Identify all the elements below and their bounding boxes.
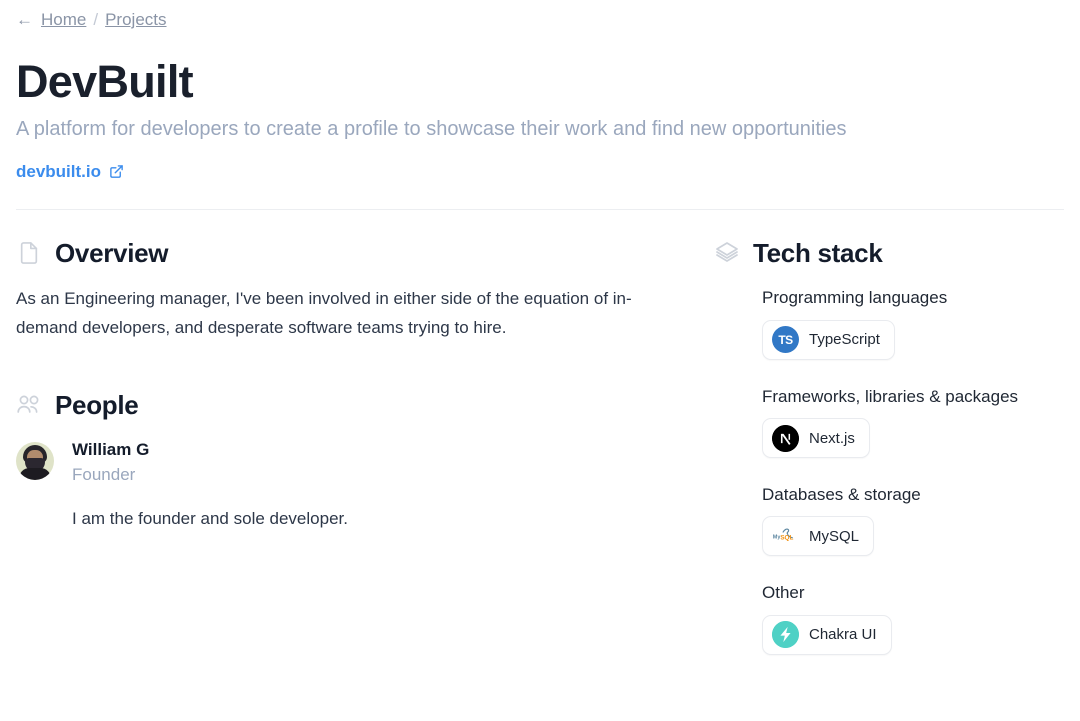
project-detail-page: ← Home / Projects DevBuilt A platform fo… [0, 0, 1080, 721]
document-icon [16, 240, 42, 266]
tech-chip-label: Next.js [809, 431, 855, 446]
tech-chip-nextjs[interactable]: Next.js [762, 418, 870, 458]
overview-heading: Overview [55, 240, 168, 266]
person-info: William G Founder [72, 439, 149, 486]
left-column: Overview As an Engineering manager, I've… [16, 240, 714, 531]
tech-chip-chakra-ui[interactable]: Chakra UI [762, 615, 892, 655]
section-divider [16, 209, 1064, 210]
breadcrumb: ← Home / Projects [16, 0, 1064, 28]
arrow-left-icon[interactable]: ← [16, 11, 33, 28]
tech-chip-mysql[interactable]: My SQL MySQL [762, 516, 874, 556]
person-note: I am the founder and sole developer. [72, 506, 714, 532]
layers-icon [714, 240, 740, 266]
page-title: DevBuilt [16, 58, 1064, 105]
tech-group-label: Databases & storage [762, 485, 1064, 505]
tech-stack-heading: Tech stack [753, 240, 882, 266]
chip-list: My SQL MySQL [762, 516, 1064, 556]
person-role: Founder [72, 464, 149, 486]
chip-list: Chakra UI [762, 615, 1064, 655]
tech-group-label: Programming languages [762, 288, 1064, 308]
tech-chip-label: TypeScript [809, 332, 880, 347]
mysql-logo-icon: My SQL [772, 523, 799, 550]
tech-group-programming-languages: Programming languages TS TypeScript [762, 288, 1064, 359]
tech-stack-groups: Programming languages TS TypeScript Fram… [714, 288, 1064, 655]
project-tagline: A platform for developers to create a pr… [16, 116, 1064, 142]
project-website-label: devbuilt.io [16, 163, 101, 180]
tech-chip-label: MySQL [809, 529, 859, 544]
right-column: Tech stack Programming languages TS Type… [714, 240, 1064, 655]
users-icon [16, 392, 42, 418]
overview-text: As an Engineering manager, I've been inv… [16, 285, 692, 342]
tech-chip-label: Chakra UI [809, 627, 877, 642]
tech-group-label: Other [762, 583, 1064, 603]
chakra-ui-logo-icon [772, 621, 799, 648]
chip-list: TS TypeScript [762, 320, 1064, 360]
overview-section-header: Overview [16, 240, 714, 266]
nextjs-logo-icon [772, 425, 799, 452]
people-heading: People [55, 392, 138, 418]
breadcrumb-item-home[interactable]: Home [41, 11, 86, 28]
chip-list: Next.js [762, 418, 1064, 458]
svg-text:SQL: SQL [780, 535, 793, 542]
tech-group-databases: Databases & storage My SQL [762, 485, 1064, 556]
typescript-logo-icon: TS [772, 326, 799, 353]
tech-group-other: Other Chakra UI [762, 583, 1064, 654]
tech-group-label: Frameworks, libraries & packages [762, 387, 1064, 407]
tech-group-frameworks: Frameworks, libraries & packages [762, 387, 1064, 458]
breadcrumb-item-projects[interactable]: Projects [105, 11, 166, 28]
list-item[interactable]: William G Founder [16, 439, 714, 486]
avatar [16, 442, 54, 480]
people-section-header: People [16, 392, 714, 418]
tech-chip-typescript[interactable]: TS TypeScript [762, 320, 895, 360]
person-name: William G [72, 439, 149, 461]
breadcrumb-separator: / [93, 11, 98, 28]
project-website-link[interactable]: devbuilt.io [16, 163, 124, 180]
external-link-icon [109, 164, 124, 179]
tech-stack-section-header: Tech stack [714, 240, 1064, 266]
